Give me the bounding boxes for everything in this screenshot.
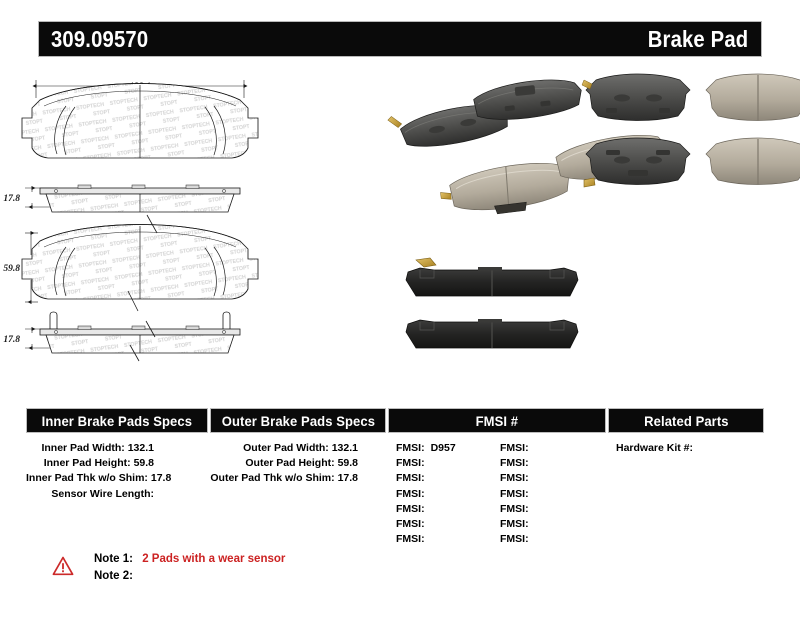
fmsi-value [529, 442, 535, 454]
spec-label: Outer Pad Thk w/o Shim: [210, 472, 334, 484]
fmsi-row: FMSI: [396, 456, 500, 471]
spec-value: 132.1 [332, 442, 358, 454]
column-header-fmsi: FMSI # [388, 408, 606, 433]
fmsi-row: FMSI: [500, 471, 604, 486]
spec-row: Inner Pad Width: 132.1 [26, 441, 208, 456]
specifications-table: Inner Brake Pads Specs Inner Pad Width: … [26, 408, 764, 538]
thickness-dimension-label-bottom: 17.8 [3, 335, 20, 345]
fmsi-value [529, 457, 535, 469]
spec-row: Sensor Wire Length: [26, 487, 208, 502]
spec-row: Outer Pad Thk w/o Shim: 17.8 [210, 471, 386, 486]
note-row-1: Note 1: 2 Pads with a wear sensor [94, 553, 285, 565]
spec-value: 17.8 [338, 472, 358, 484]
spec-value: 17.8 [151, 472, 171, 484]
fmsi-subcolumn-right: FMSI: FMSI: FMSI: FMSI: FMSI: FMSI: [500, 441, 604, 547]
fmsi-row: FMSI: [500, 517, 604, 532]
note-1-value: 2 Pads with a wear sensor [136, 553, 285, 565]
fmsi-row: FMSI: [396, 487, 500, 502]
spec-label: Outer Pad Height: [245, 457, 334, 469]
fmsi-row: FMSI: [500, 532, 604, 547]
fmsi-label: FMSI: [396, 488, 425, 500]
fmsi-label: FMSI: [500, 533, 529, 545]
fmsi-value [425, 472, 431, 484]
related-parts-row: Hardware Kit #: [616, 441, 764, 456]
fmsi-row: FMSI: [500, 456, 604, 471]
brake-pad-photographs [382, 62, 800, 382]
fmsi-row: FMSI:D957 [396, 441, 500, 456]
fmsi-label: FMSI: [396, 533, 425, 545]
product-type-title: Brake Pad [647, 28, 748, 51]
fmsi-label: FMSI: [500, 442, 529, 454]
top-edge-view-drawing: 17.8 [3, 185, 240, 212]
fmsi-row: FMSI: [396, 502, 500, 517]
photo-group-grid [582, 74, 800, 187]
fmsi-label: FMSI: [396, 457, 425, 469]
bottom-plan-view-drawing: 59.8 [3, 215, 258, 311]
wear-sensor-clip [582, 80, 592, 89]
bottom-edge-view-drawing: 17.8 [3, 312, 240, 361]
note-2-label: Note 2: [94, 570, 133, 582]
fmsi-value [529, 472, 535, 484]
fmsi-label: FMSI: [396, 518, 425, 530]
fmsi-value [425, 518, 431, 530]
fmsi-value [425, 488, 431, 500]
fmsi-value [425, 533, 431, 545]
column-body-outer: Outer Pad Width: 132.1 Outer Pad Height:… [210, 433, 386, 487]
spec-value: 132.1 [128, 442, 154, 454]
page-header-bar: 309.09570 Brake Pad [38, 21, 762, 57]
fmsi-label: FMSI: [500, 503, 529, 515]
warning-triangle-icon [52, 556, 74, 576]
fmsi-row: FMSI: [396, 517, 500, 532]
wear-sensor-clip [440, 191, 451, 200]
fmsi-subcolumn-left: FMSI:D957 FMSI: FMSI: FMSI: FMSI: FMSI: [396, 441, 500, 547]
fmsi-label: FMSI: [500, 488, 529, 500]
spec-row: Inner Pad Thk w/o Shim: 17.8 [26, 471, 208, 486]
wear-sensor-clip [387, 115, 402, 129]
thickness-dimension-label-top: 17.8 [3, 194, 20, 204]
fmsi-row: FMSI: [500, 441, 604, 456]
column-header-related-parts: Related Parts [608, 408, 764, 433]
spec-value: 59.8 [134, 457, 154, 469]
spec-label: Inner Pad Height: [44, 457, 131, 469]
spec-label: Sensor Wire Length: [51, 488, 154, 500]
technical-drawings-panel: STOPTECH STOPTECH [0, 62, 390, 382]
fmsi-row: FMSI: [396, 532, 500, 547]
spec-label: Inner Pad Thk w/o Shim: [26, 472, 148, 484]
fmsi-label: FMSI: [500, 457, 529, 469]
column-body-related-parts: Hardware Kit #: [608, 433, 764, 456]
fmsi-row: FMSI: [500, 502, 604, 517]
note-1-label: Note 1: [94, 553, 133, 565]
spec-row: Inner Pad Height: 59.8 [26, 456, 208, 471]
spec-row: Outer Pad Width: 132.1 [210, 441, 386, 456]
fmsi-value [425, 457, 431, 469]
column-header-outer: Outer Brake Pads Specs [210, 408, 386, 433]
note-row-2: Note 2: [94, 570, 139, 582]
fmsi-value [529, 503, 535, 515]
notes-section: Note 1: 2 Pads with a wear sensor Note 2… [52, 553, 452, 595]
spec-label: Outer Pad Width: [243, 442, 329, 454]
column-fmsi: FMSI # FMSI:D957 FMSI: FMSI: FMSI: FMSI: [388, 408, 606, 547]
column-inner-specs: Inner Brake Pads Specs Inner Pad Width: … [26, 408, 208, 502]
part-number: 309.09570 [51, 28, 148, 51]
spec-label: Inner Pad Width: [41, 442, 124, 454]
fmsi-label: FMSI: [396, 503, 425, 515]
brake-pad-line-drawings: STOPTECH STOPTECH [0, 62, 390, 382]
column-header-inner: Inner Brake Pads Specs [26, 408, 208, 433]
fmsi-value [529, 488, 535, 500]
related-parts-label: Hardware Kit #: [616, 442, 693, 454]
note-2-value [133, 570, 139, 582]
column-body-inner: Inner Pad Width: 132.1 Inner Pad Height:… [26, 433, 208, 502]
photo-group-edge [406, 258, 578, 348]
fmsi-row: FMSI: [396, 471, 500, 486]
column-body-fmsi: FMSI:D957 FMSI: FMSI: FMSI: FMSI: FMSI: [388, 433, 606, 547]
fmsi-label: FMSI: [500, 518, 529, 530]
product-photos-panel [382, 62, 800, 382]
fmsi-label: FMSI: [396, 442, 425, 454]
fmsi-value [529, 518, 535, 530]
spec-row: Outer Pad Height: 59.8 [210, 456, 386, 471]
fmsi-value [425, 503, 431, 515]
fmsi-value [529, 533, 535, 545]
wear-sensor-clip [416, 258, 436, 267]
spec-value: 59.8 [338, 457, 358, 469]
fmsi-label: FMSI: [396, 472, 425, 484]
fmsi-value: D957 [425, 442, 456, 454]
height-dimension-label: 59.8 [3, 264, 20, 274]
top-plan-view-drawing: 132.1 [22, 80, 258, 158]
column-outer-specs: Outer Brake Pads Specs Outer Pad Width: … [210, 408, 386, 487]
fmsi-row: FMSI: [500, 487, 604, 502]
column-related-parts: Related Parts Hardware Kit #: [608, 408, 764, 456]
fmsi-label: FMSI: [500, 472, 529, 484]
